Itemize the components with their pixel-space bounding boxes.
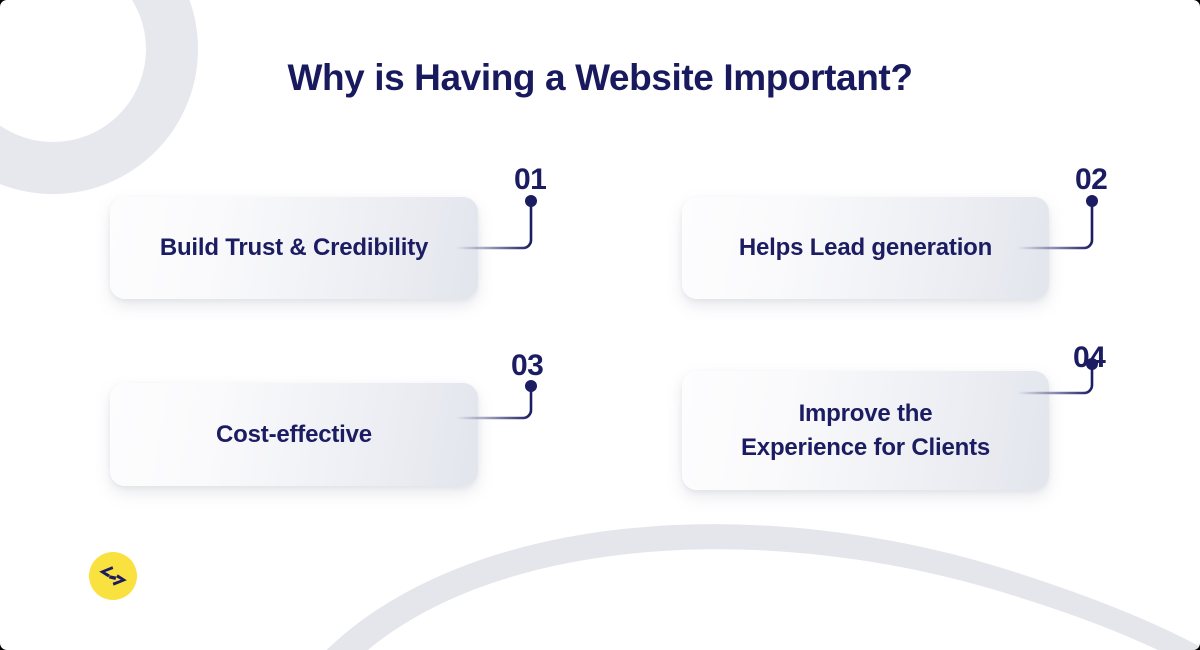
info-card-03-number: 03	[511, 349, 543, 383]
info-card-01-label: Build Trust & Credibility	[142, 231, 446, 264]
info-card-03-label: Cost-effective	[198, 418, 390, 451]
infographic-canvas: Why is Having a Website Important? Build…	[0, 0, 1200, 650]
info-card-03[interactable]: Cost-effective	[110, 383, 478, 486]
brand-logo-mark-icon	[96, 563, 130, 589]
info-card-04-label-line1: Improve the	[799, 400, 933, 427]
info-card-01-number: 01	[514, 163, 546, 197]
page-title: Why is Having a Website Important?	[0, 57, 1200, 99]
info-card-02[interactable]: Helps Lead generation	[682, 197, 1049, 299]
info-card-02-number: 02	[1075, 163, 1107, 197]
info-card-04-label-line2: Experience for Clients	[741, 434, 990, 461]
brand-logo[interactable]	[89, 552, 137, 600]
info-card-01[interactable]: Build Trust & Credibility	[110, 197, 478, 299]
info-card-04[interactable]: Improve the Experience for Clients	[682, 371, 1049, 490]
info-card-04-label: Improve the Experience for Clients	[723, 397, 1008, 463]
info-card-04-number: 04	[1073, 341, 1105, 375]
info-card-02-label: Helps Lead generation	[721, 231, 1010, 264]
